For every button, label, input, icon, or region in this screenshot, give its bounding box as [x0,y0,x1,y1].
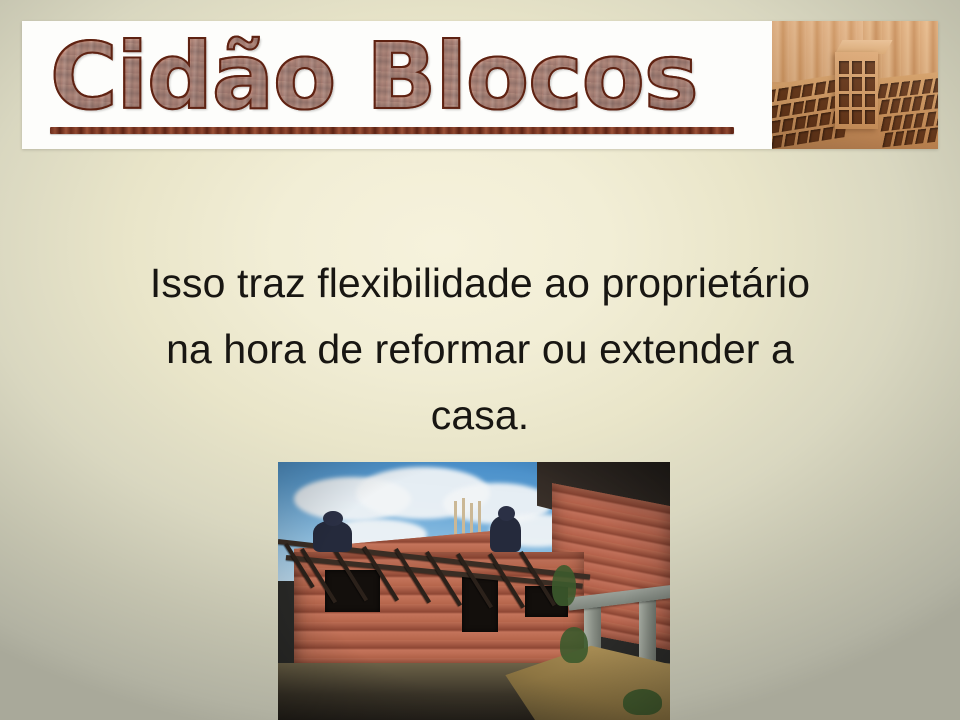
brand-wordmark: Cidão Blocos [50,25,698,129]
block-front-face [835,52,878,129]
vegetation [623,689,662,715]
vegetation [560,627,587,663]
logo-underline-rule [50,127,734,134]
vegetation [552,565,576,606]
ceramic-blocks-photo [772,21,938,149]
slide-caption: Isso traz flexibilidade ao proprietário … [50,250,910,448]
caption-line-2: na hora de reformar ou extender a [50,316,910,382]
window-opening [462,576,497,633]
block-holes-right [878,77,938,146]
worker-silhouette [490,516,521,552]
logo-banner: Cidão Blocos [22,21,938,149]
caption-line-3: casa. [50,382,910,448]
block-stack-right [875,71,938,149]
worker-head [323,511,343,526]
construction-site-photo [278,462,670,720]
logo-white-panel: Cidão Blocos [22,21,772,149]
caption-line-1: Isso traz flexibilidade ao proprietário [50,250,910,316]
block-holes-front [839,61,875,124]
presentation-slide: Cidão Blocos [0,0,960,720]
